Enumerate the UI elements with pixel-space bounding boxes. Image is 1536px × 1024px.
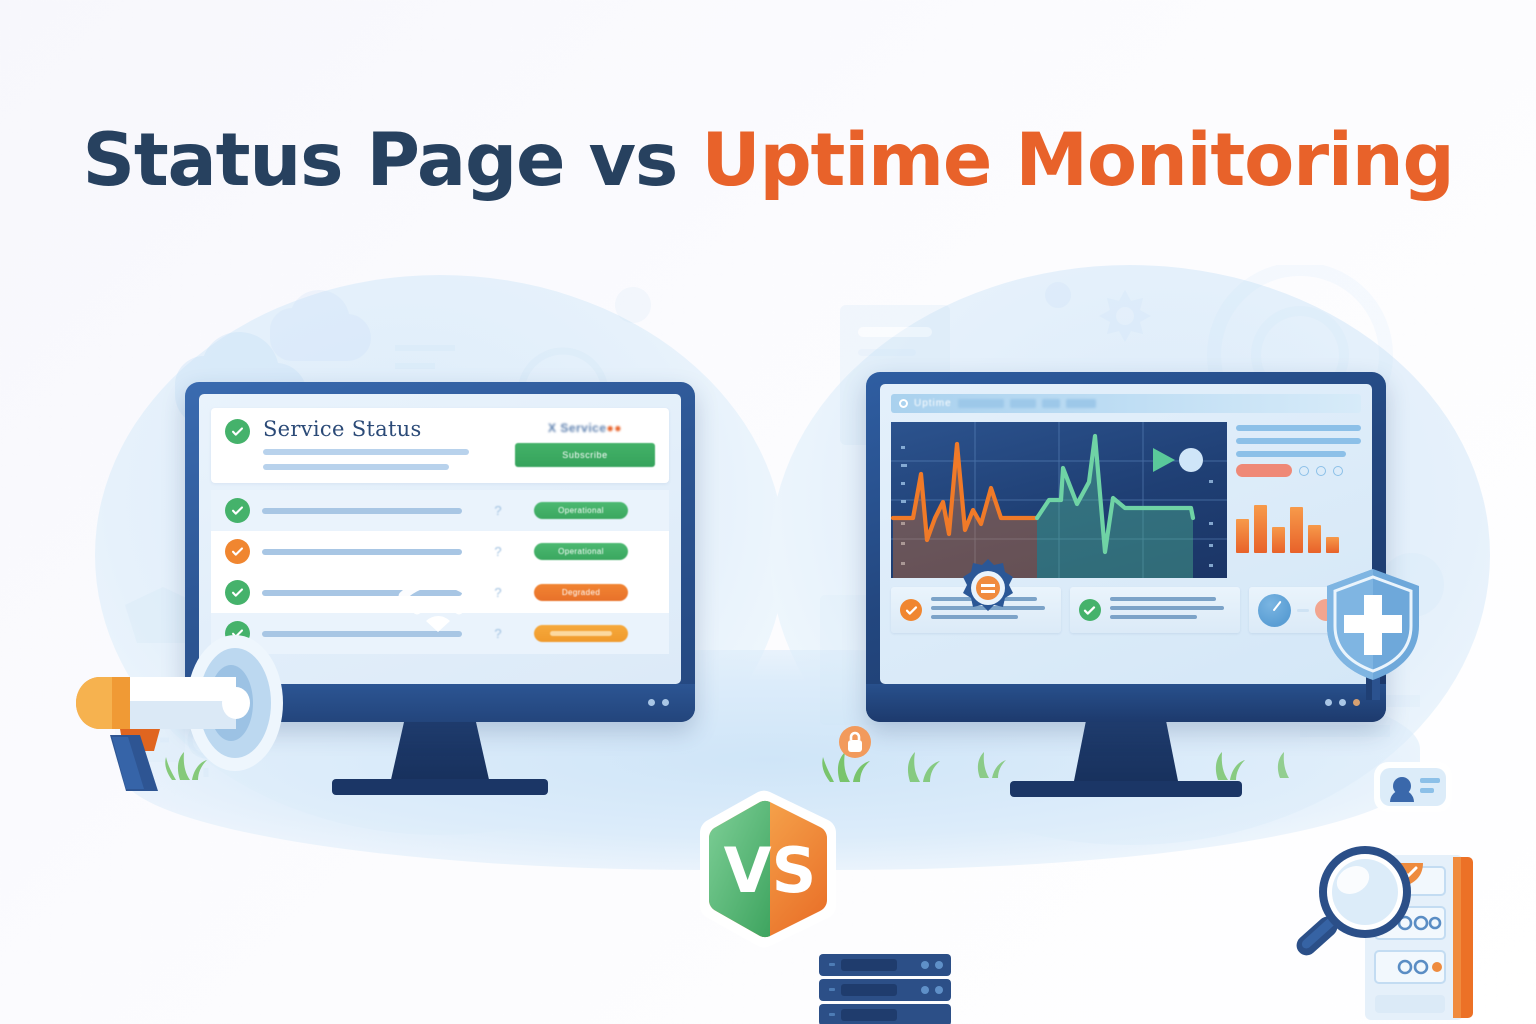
status-badge: Operational: [534, 543, 628, 560]
dot-marker-icon: [1179, 448, 1203, 472]
monitor-screen: Uptime: [880, 384, 1372, 684]
row-meta: ?: [474, 585, 522, 600]
placeholder-line: [1236, 451, 1346, 457]
page-title-accent: Uptime Monitoring: [701, 118, 1453, 203]
bar-segment: [1042, 399, 1060, 408]
magnifier-icon: [1285, 842, 1415, 974]
status-page-header-main: Service Status: [263, 419, 502, 470]
wifi-icon: [395, 570, 481, 632]
monitor-stand-neck: [1073, 722, 1179, 786]
bar: [1272, 527, 1285, 553]
status-pill: [1236, 464, 1292, 477]
table-row[interactable]: ? Operational: [211, 490, 669, 531]
bar-segment: [1010, 399, 1036, 408]
dashboard-bar-label: Uptime: [914, 398, 952, 409]
incident-bars: [1236, 493, 1361, 553]
progress-bar: [550, 631, 612, 636]
card-lines: [1110, 597, 1231, 624]
play-marker-icon: [1153, 448, 1175, 472]
server-stack-icon: [815, 952, 965, 1024]
placeholder-line: [1110, 597, 1216, 601]
brand-prefix: X: [548, 421, 557, 435]
status-page-header-right: X Service●● Subscribe: [515, 419, 655, 467]
status-page-header: Service Status X Service●● Subscribe: [211, 408, 669, 483]
vs-badge: VS: [688, 788, 852, 950]
check-circle-icon: [225, 498, 250, 523]
gauge-icon: [1258, 594, 1291, 627]
monitor-stand-neck: [390, 722, 490, 784]
response-time-chart[interactable]: [891, 422, 1227, 578]
placeholder-line: [263, 464, 449, 470]
chart-svg: [891, 422, 1227, 578]
brand-label: X Service●●: [515, 421, 655, 435]
check-circle-icon: [225, 539, 250, 564]
bar: [1326, 537, 1339, 553]
monitor-stand-base: [1010, 781, 1242, 797]
check-circle-icon: [225, 419, 250, 444]
bar: [1254, 505, 1267, 553]
check-circle-icon: [1079, 599, 1101, 621]
monitor-chin: [866, 684, 1386, 722]
row-meta: ?: [474, 544, 522, 559]
check-circle-icon: [225, 580, 250, 605]
gear-icon: [958, 558, 1018, 618]
monitor-indicator-dots: [1325, 699, 1360, 706]
dashboard-top-bar: Uptime: [891, 394, 1361, 413]
status-badge: [534, 625, 628, 642]
brand-name: Service: [560, 421, 606, 435]
connector-icon: [1297, 609, 1309, 612]
illustration-scene: Service Status X Service●● Subscribe: [0, 230, 1536, 870]
user-badge-icon: [1372, 760, 1454, 820]
service-name-placeholder: [262, 549, 462, 555]
service-name-placeholder: [262, 508, 462, 514]
placeholder-line: [1110, 615, 1197, 619]
subscribe-button[interactable]: Subscribe: [515, 443, 655, 467]
indicator-dot-icon: [1353, 699, 1360, 706]
indicator-dot-icon: [1339, 699, 1346, 706]
placeholder-line: [1236, 425, 1361, 431]
row-meta: ?: [474, 503, 522, 518]
monitor-stand-base: [332, 779, 548, 795]
circle-outline-icon: [1333, 466, 1343, 476]
bar: [1308, 525, 1321, 553]
circle-outline-icon: [1299, 466, 1309, 476]
page-title-primary: Status Page vs: [82, 118, 701, 203]
bar-segment: [1066, 399, 1096, 408]
shield-check-icon: [1318, 565, 1428, 700]
vs-badge-label: VS: [724, 834, 817, 907]
circle-outline-icon: [1316, 466, 1326, 476]
check-circle-icon: [900, 599, 922, 621]
placeholder-line: [263, 449, 469, 455]
dashboard-body: [891, 422, 1361, 578]
placeholder-line: [1236, 438, 1361, 444]
bar: [1290, 507, 1303, 553]
sidebar-status-row: [1236, 464, 1361, 477]
page-title: Status Page vs Uptime Monitoring: [0, 118, 1536, 203]
lock-icon: [838, 725, 872, 759]
megaphone-icon: [60, 625, 315, 805]
placeholder-line: [1110, 606, 1224, 610]
brand-dot-icon: ●●: [607, 421, 623, 435]
uptime-monitor: Uptime: [866, 372, 1386, 722]
status-badge: Operational: [534, 502, 628, 519]
bar: [1236, 519, 1249, 553]
indicator-dot-icon: [648, 699, 655, 706]
status-page-title: Service Status: [263, 419, 502, 440]
row-meta: ?: [474, 626, 522, 641]
circle-outline-icon: [899, 399, 908, 408]
indicator-dot-icon: [662, 699, 669, 706]
table-row[interactable]: ? Operational: [211, 531, 669, 572]
status-badge: Degraded: [534, 584, 628, 601]
bar-segment: [958, 399, 1004, 408]
monitor-indicator-dots: [648, 699, 669, 706]
monitoring-dashboard-screen: Uptime: [880, 384, 1372, 684]
dashboard-sidebar: [1236, 422, 1361, 578]
indicator-dot-icon: [1325, 699, 1332, 706]
status-card[interactable]: [1070, 587, 1240, 633]
